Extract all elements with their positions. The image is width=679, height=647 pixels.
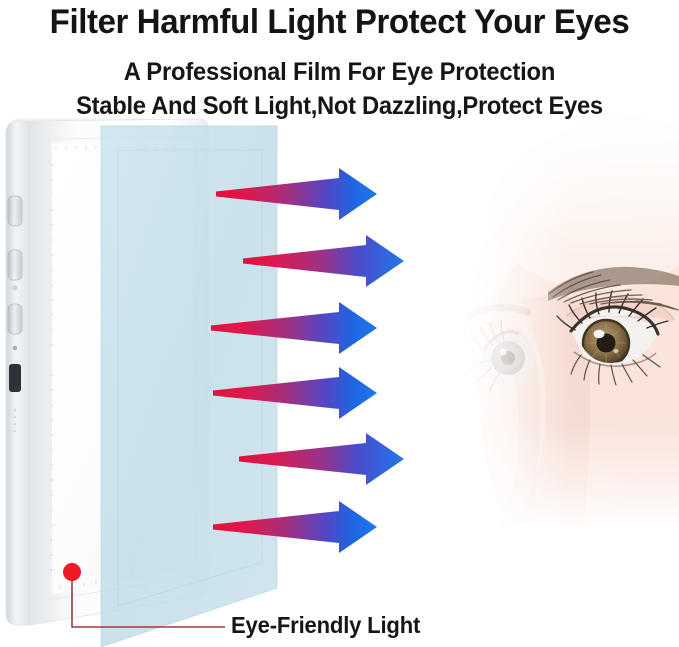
page-title: Filter Harmful Light Protect Your Eyes — [10, 0, 669, 42]
microphone-hole — [13, 346, 18, 351]
headline-block: Filter Harmful Light Protect Your Eyes A… — [0, 0, 679, 122]
usb-c-port — [9, 364, 21, 392]
subtitle-line-2: Stable And Soft Light,Not Dazzling,Prote… — [17, 88, 662, 122]
callout-marker-dot — [63, 563, 81, 581]
sensor-hole — [12, 285, 17, 290]
human-eye-photo — [452, 108, 679, 590]
volume-up-button — [8, 196, 22, 226]
power-button — [8, 304, 22, 334]
subtitle-line-1: A Professional Film For Eye Protection — [17, 42, 662, 88]
product-infographic: Filter Harmful Light Protect Your Eyes A… — [0, 0, 679, 647]
volume-down-button — [8, 250, 22, 280]
callout-label: Eye-Friendly Light — [231, 611, 420, 639]
